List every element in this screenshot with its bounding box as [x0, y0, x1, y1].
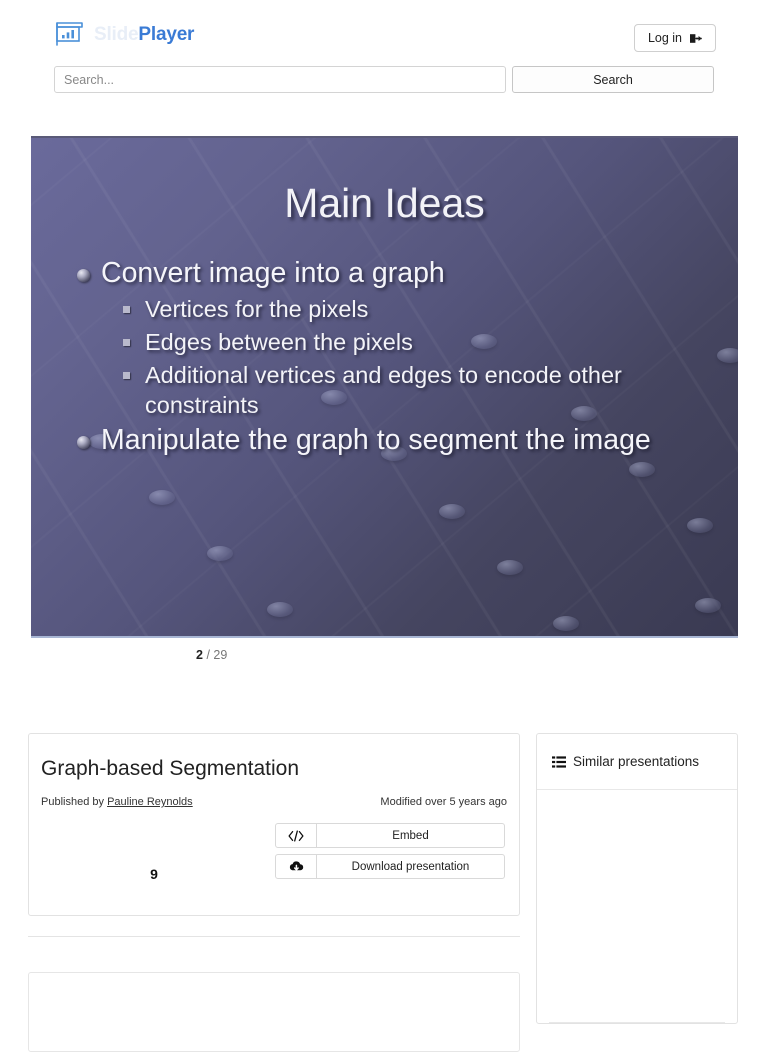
- download-button[interactable]: Download presentation: [275, 854, 505, 879]
- search-button[interactable]: Search: [512, 66, 714, 93]
- slide-viewer[interactable]: Main Ideas Convert image into a graph Ve…: [31, 136, 738, 638]
- embed-label: Embed: [317, 824, 504, 847]
- code-icon: [276, 824, 317, 847]
- brand-name-dim: Slide: [94, 24, 138, 45]
- published-by-label: Published by: [41, 796, 104, 808]
- cloud-download-icon: [276, 855, 317, 878]
- similar-presentations-panel: Similar presentations: [536, 733, 738, 1024]
- slide-canvas: Main Ideas Convert image into a graph Ve…: [31, 138, 738, 636]
- bullet-level1: Manipulate the graph to segment the imag…: [75, 423, 715, 459]
- sub-bullet-group: Vertices for the pixels Edges between th…: [121, 294, 715, 420]
- login-button[interactable]: Log in: [634, 24, 716, 52]
- sphere-bullet-icon: [77, 436, 90, 449]
- sidebar-footer-divider: [549, 1022, 725, 1023]
- presentation-title: Graph-based Segmentation: [41, 757, 299, 781]
- slide-pager: 2 / 29: [196, 648, 227, 662]
- login-label: Log in: [648, 31, 682, 45]
- presentation-board-icon: [52, 20, 86, 48]
- empty-content-card: [28, 972, 520, 1052]
- sign-in-icon: [689, 32, 702, 45]
- pager-total: 29: [213, 648, 227, 662]
- site-header: SlidePlayer Log in: [0, 0, 768, 60]
- modified-date: Modified over 5 years ago: [380, 796, 507, 808]
- brand-logo[interactable]: SlidePlayer: [52, 20, 194, 48]
- embed-button[interactable]: Embed: [275, 823, 505, 848]
- slide-bullet-list: Convert image into a graph Vertices for …: [75, 256, 715, 461]
- view-count: 9: [29, 866, 279, 882]
- bullet-level1: Convert image into a graph: [75, 256, 715, 292]
- square-bullet-icon: [123, 306, 130, 313]
- bullet-level2: Vertices for the pixels: [121, 294, 715, 324]
- published-by: Published by Pauline Reynolds: [41, 796, 193, 808]
- similar-presentations-title: Similar presentations: [573, 754, 699, 769]
- sphere-bullet-icon: [77, 269, 90, 282]
- brand-name-lit: Player: [138, 24, 194, 45]
- pager-separator: /: [206, 648, 209, 662]
- square-bullet-icon: [123, 372, 130, 379]
- presentation-meta: Published by Pauline Reynolds Modified o…: [41, 796, 507, 808]
- square-bullet-icon: [123, 339, 130, 346]
- bullet-level2: Edges between the pixels: [121, 327, 715, 357]
- presentation-info-card: Graph-based Segmentation Published by Pa…: [28, 733, 520, 916]
- pager-current: 2: [196, 648, 203, 662]
- download-label: Download presentation: [317, 855, 504, 878]
- slide-title: Main Ideas: [31, 180, 738, 227]
- section-divider: [28, 936, 520, 937]
- search-bar: Search: [54, 66, 714, 93]
- list-icon: [552, 756, 566, 768]
- bullet-level2-text: Additional vertices and edges to encode …: [145, 362, 622, 418]
- brand-name: SlidePlayer: [94, 25, 194, 44]
- similar-presentations-list: [537, 790, 737, 1023]
- search-input[interactable]: [54, 66, 506, 93]
- similar-presentations-header: Similar presentations: [537, 734, 737, 790]
- bullet-level2-text: Edges between the pixels: [145, 329, 413, 355]
- action-buttons: Embed Download presentation: [275, 823, 505, 879]
- bullet-level2-text: Vertices for the pixels: [145, 296, 368, 322]
- bullet-level2: Additional vertices and edges to encode …: [121, 360, 715, 420]
- bullet-level1-text: Convert image into a graph: [101, 257, 445, 289]
- author-link[interactable]: Pauline Reynolds: [107, 796, 193, 808]
- bullet-level1-text: Manipulate the graph to segment the imag…: [101, 424, 651, 456]
